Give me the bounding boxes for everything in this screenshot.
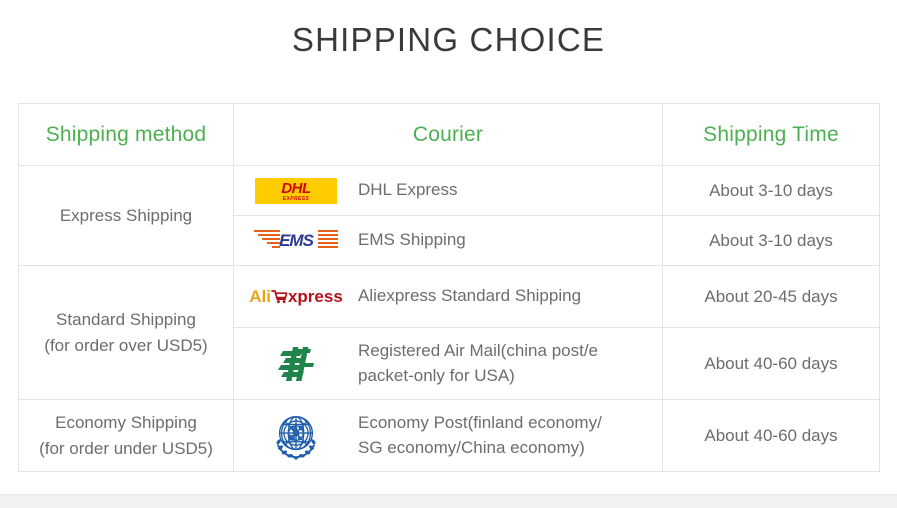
courier-cell-economy-post: Economy Post(finland economy/ SG economy…: [234, 400, 663, 472]
header-courier: Courier: [234, 104, 663, 166]
courier-label: EMS Shipping: [358, 228, 466, 253]
time-cell: About 40-60 days: [663, 400, 880, 472]
method-name: Economy Shipping: [23, 410, 229, 436]
dhl-logo: DHL EXPRESS: [248, 178, 344, 204]
courier-cell-ems: EMS EMS Shipping: [234, 216, 663, 266]
time-cell: About 3-10 days: [663, 166, 880, 216]
time-cell: About 20-45 days: [663, 266, 880, 328]
courier-label: Registered Air Mail(china post/e packet-…: [358, 339, 598, 388]
ems-logo-right-bars: [318, 230, 338, 248]
title-underline-dark-segment: [337, 74, 449, 79]
time-cell: About 3-10 days: [663, 216, 880, 266]
method-economy-shipping: Economy Shipping (for order under USD5): [19, 400, 234, 472]
header-shipping-method: Shipping method: [19, 104, 234, 166]
courier-cell-dhl: DHL EXPRESS DHL Express: [234, 166, 663, 216]
aliexpress-logo-ali: Ali: [249, 288, 271, 305]
ems-logo-word: EMS: [279, 232, 313, 249]
header-shipping-time: Shipping Time: [663, 104, 880, 166]
page-title: SHIPPING CHOICE: [0, 22, 897, 58]
courier-label: DHL Express: [358, 178, 458, 203]
table-row: Express Shipping DHL EXPRESS DHL Express: [19, 166, 880, 216]
time-cell: About 40-60 days: [663, 328, 880, 400]
courier-label: Aliexpress Standard Shipping: [358, 284, 581, 309]
courier-label: Economy Post(finland economy/ SG economy…: [358, 411, 602, 460]
table-row: Standard Shipping (for order over USD5) …: [19, 266, 880, 328]
courier-cell-aliexpress: Ali xpress: [234, 266, 663, 328]
dhl-logo-word: DHL: [281, 181, 310, 196]
china-post-logo: [248, 343, 344, 385]
method-name: Standard Shipping: [23, 307, 229, 333]
ems-logo: EMS: [248, 227, 344, 255]
bottom-strip: [0, 494, 897, 508]
table-header-row: Shipping method Courier Shipping Time: [19, 104, 880, 166]
method-note: (for order over USD5): [23, 333, 229, 359]
courier-cell-china-post: Registered Air Mail(china post/e packet-…: [234, 328, 663, 400]
shopping-cart-icon: [271, 289, 288, 304]
method-name: Express Shipping: [23, 203, 229, 229]
title-underline-green-segment: [449, 74, 561, 79]
shipping-table-wrapper: Shipping method Courier Shipping Time Ex…: [18, 103, 879, 472]
method-express-shipping: Express Shipping: [19, 166, 234, 266]
shipping-choice-page: SHIPPING CHOICE Shipping method Courier …: [0, 0, 897, 508]
dhl-logo-sub: EXPRESS: [283, 197, 309, 202]
title-underline: [337, 74, 561, 79]
aliexpress-logo-xpress: xpress: [288, 288, 343, 305]
title-block: SHIPPING CHOICE: [0, 0, 897, 79]
table-row: Economy Shipping (for order under USD5): [19, 400, 880, 472]
shipping-table: Shipping method Courier Shipping Time Ex…: [18, 103, 880, 472]
aliexpress-logo: Ali xpress: [248, 288, 344, 305]
ems-logo-left-bars: [254, 230, 280, 248]
method-note: (for order under USD5): [23, 436, 229, 462]
method-standard-shipping: Standard Shipping (for order over USD5): [19, 266, 234, 400]
un-logo: [248, 409, 344, 463]
